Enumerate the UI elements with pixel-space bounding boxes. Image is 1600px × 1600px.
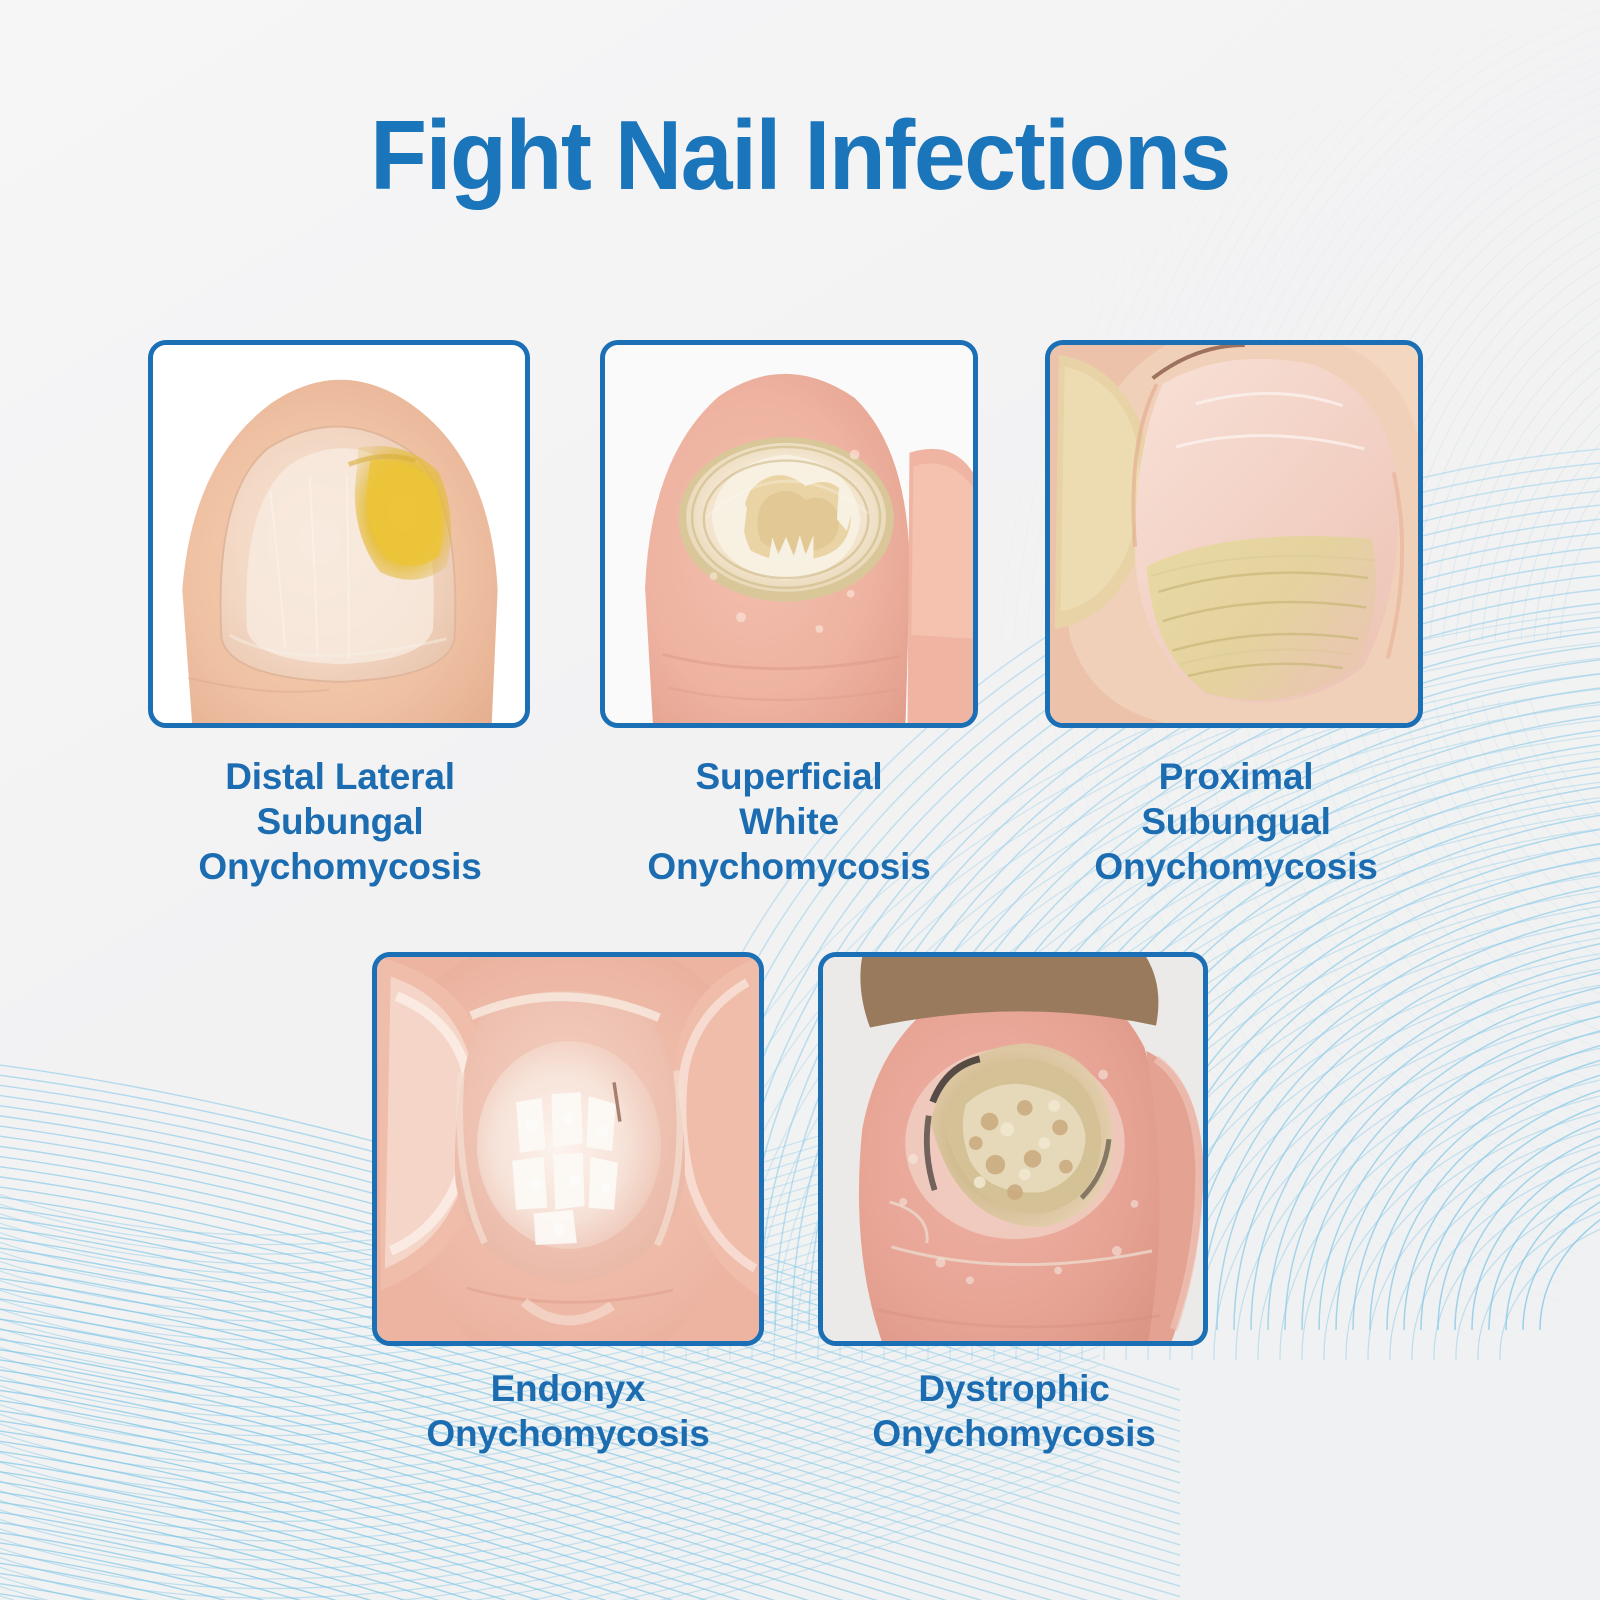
- card-proximal-subungual[interactable]: [1045, 340, 1423, 728]
- card-superficial-white[interactable]: [600, 340, 978, 728]
- toenail-superficial-white-onychomycosis-photo: [605, 345, 973, 723]
- caption-proximal-subungual: Proximal Subungual Onychomycosis: [1026, 754, 1446, 889]
- fingernail-endonyx-onychomycosis-photo: [377, 957, 759, 1341]
- page-title: Fight Nail Infections: [40, 104, 1560, 207]
- toenail-dystrophic-onychomycosis-photo: [823, 957, 1203, 1341]
- card-endonyx[interactable]: [372, 952, 764, 1346]
- caption-endonyx: Endonyx Onychomycosis: [366, 1366, 770, 1456]
- caption-dystrophic: Dystrophic Onychomycosis: [812, 1366, 1216, 1456]
- caption-superficial-white: Superficial White Onychomycosis: [582, 754, 996, 889]
- card-distal-lateral-subungal[interactable]: [148, 340, 530, 728]
- toenail-distal-lateral-subungal-onychomycosis-photo: [153, 345, 525, 723]
- infographic-root: Fight Nail Infections: [0, 0, 1600, 1600]
- card-dystrophic[interactable]: [818, 952, 1208, 1346]
- fingernail-proximal-subungual-onychomycosis-photo: [1050, 345, 1418, 723]
- caption-distal-lateral-subungal: Distal Lateral Subungal Onychomycosis: [130, 754, 550, 889]
